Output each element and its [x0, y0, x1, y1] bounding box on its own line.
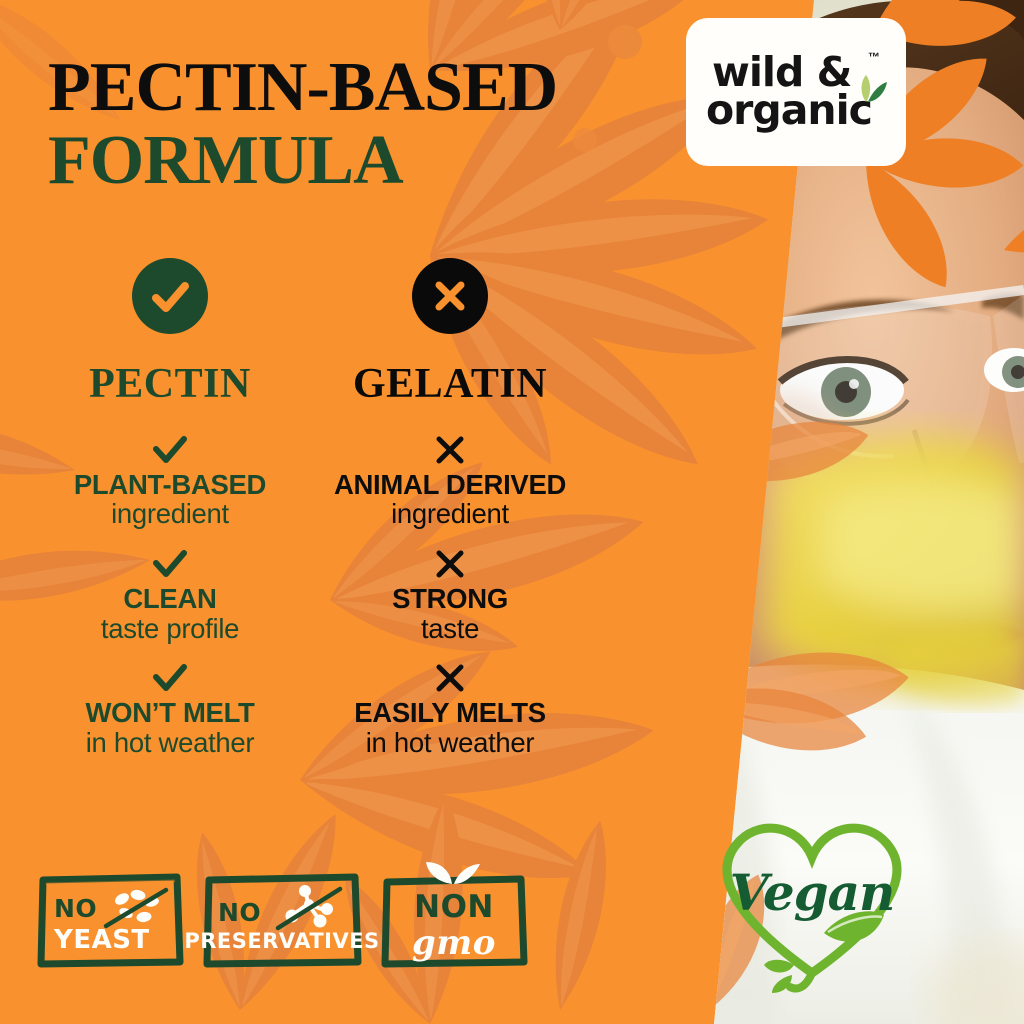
cell-strong-text: WON’T MELT [34, 698, 306, 727]
cell-light-text: ingredient [34, 499, 306, 530]
cell-strong-text: PLANT-BASED [34, 470, 306, 499]
cell-strong-text: ANIMAL DERIVED [314, 470, 586, 499]
cell-light-text: in hot weather [314, 728, 586, 759]
claim-line-1: NO [54, 894, 97, 923]
sprout-leaves-icon [424, 856, 482, 886]
check-icon [34, 544, 306, 584]
column-title-gelatin: GELATIN [310, 360, 590, 408]
headline-line-2: FORMULA [48, 127, 668, 196]
table-row: WON’T MELT in hot weather EASILY MELTS i… [30, 658, 590, 758]
column-title-pectin: PECTIN [30, 360, 310, 408]
cell-gelatin-3: EASILY MELTS in hot weather [310, 658, 590, 758]
cell-strong-text: CLEAN [34, 584, 306, 613]
check-circle-icon [132, 258, 208, 334]
cell-pectin-3: WON’T MELT in hot weather [30, 658, 310, 758]
brand-logo-card: wild & organic ™ [686, 18, 906, 166]
table-row: PLANT-BASED ingredient ANIMAL DERIVED in… [30, 430, 590, 530]
page-title: PECTIN-BASED FORMULA [48, 54, 668, 195]
table-row: CLEAN taste profile STRONG taste [30, 544, 590, 644]
x-circle-icon [412, 258, 488, 334]
cell-gelatin-2: STRONG taste [310, 544, 590, 644]
trademark-symbol: ™ [868, 50, 880, 64]
cell-gelatin-1: ANIMAL DERIVED ingredient [310, 430, 590, 530]
claim-badge-no-yeast: NO YEAST [36, 872, 184, 968]
cell-pectin-2: CLEAN taste profile [30, 544, 310, 644]
poster-canvas: wild & organic ™ PECTIN-BASED FORMULA PE… [0, 0, 1024, 1024]
crossed-out-molecule-icon [272, 884, 346, 932]
x-icon [314, 544, 586, 584]
x-icon [314, 430, 586, 470]
claim-badge-no-preservatives: NO PRESERVATIVES [202, 872, 362, 968]
cell-light-text: in hot weather [34, 728, 306, 759]
check-icon [34, 430, 306, 470]
comparison-rows: PLANT-BASED ingredient ANIMAL DERIVED in… [30, 430, 590, 759]
cell-strong-text: EASILY MELTS [314, 698, 586, 727]
cell-strong-text: STRONG [314, 584, 586, 613]
column-pectin: PECTIN [30, 258, 310, 408]
cell-light-text: taste [314, 614, 586, 645]
crossed-out-yeast-granules-icon [102, 886, 170, 930]
x-icon [314, 658, 586, 698]
headline-line-1: PECTIN-BASED [48, 54, 668, 123]
comparison-headers: PECTIN GELATIN [30, 258, 590, 408]
two-leaves-icon [844, 72, 888, 106]
cell-light-text: ingredient [314, 499, 586, 530]
claim-line-2: PRESERVATIVES [184, 929, 379, 953]
comparison-table: PECTIN GELATIN [30, 258, 590, 773]
claim-line-1: NO [218, 898, 261, 927]
cell-pectin-1: PLANT-BASED ingredient [30, 430, 310, 530]
claim-line-2: gmo [412, 923, 496, 963]
claim-badges: NO YEAST NO PRESERVATIVE [36, 872, 528, 968]
vegan-badge: Vegan [706, 815, 918, 1000]
vegan-label: Vegan [706, 815, 918, 1000]
cell-light-text: taste profile [34, 614, 306, 645]
check-icon [34, 658, 306, 698]
column-gelatin: GELATIN [310, 258, 590, 408]
claim-line-2: YEAST [54, 925, 150, 955]
claim-line-1: NON [414, 889, 494, 925]
claim-badge-non-gmo: NON gmo [380, 872, 528, 968]
